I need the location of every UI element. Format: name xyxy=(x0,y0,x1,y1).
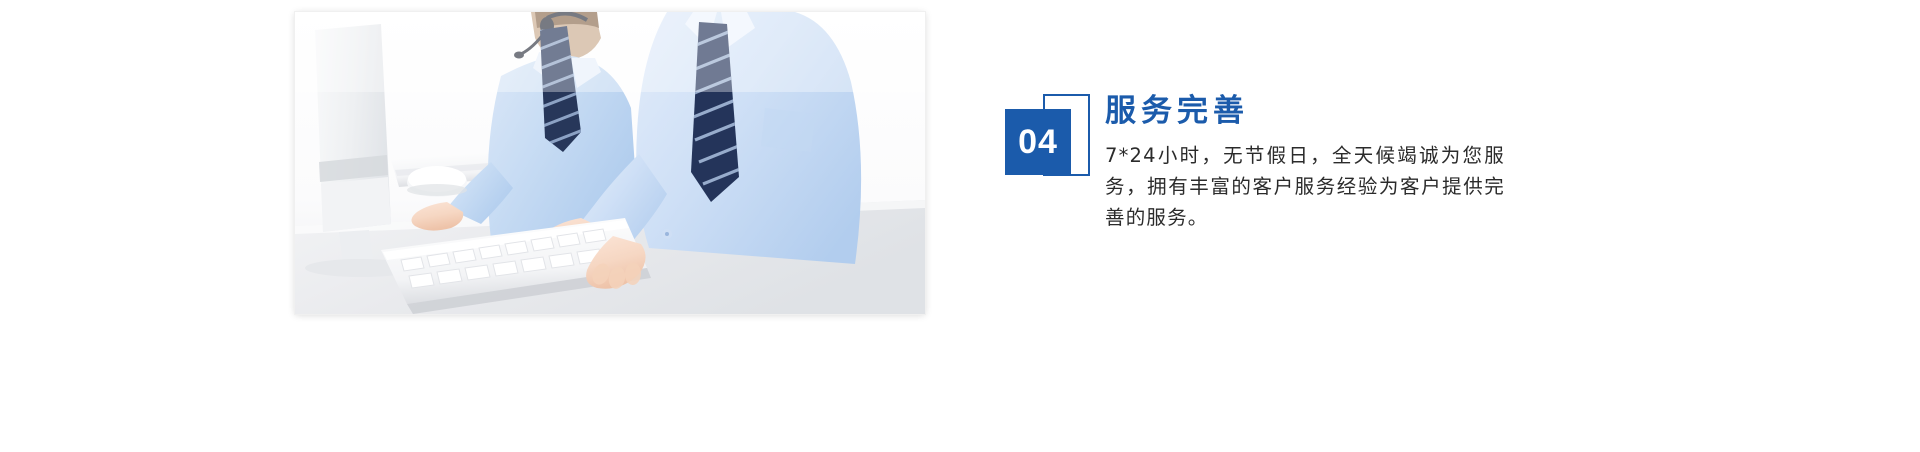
text-block: 服务完善 7*24小时，无节假日，全天候竭诚为您服务，拥有丰富的客户服务经验为客… xyxy=(1105,94,1535,233)
mouse-shape xyxy=(407,166,467,197)
step-badge: 04 xyxy=(1005,94,1110,190)
section-title: 服务完善 xyxy=(1105,94,1535,130)
photo-illustration xyxy=(295,12,925,314)
section-description: 7*24小时，无节假日，全天候竭诚为您服务，拥有丰富的客户服务经验为客户提供完善… xyxy=(1105,140,1505,233)
customer-service-photo xyxy=(295,12,925,314)
promo-section: 04 服务完善 7*24小时，无节假日，全天候竭诚为您服务，拥有丰富的客户服务经… xyxy=(0,0,1920,452)
badge-number-label: 04 xyxy=(1005,109,1071,175)
